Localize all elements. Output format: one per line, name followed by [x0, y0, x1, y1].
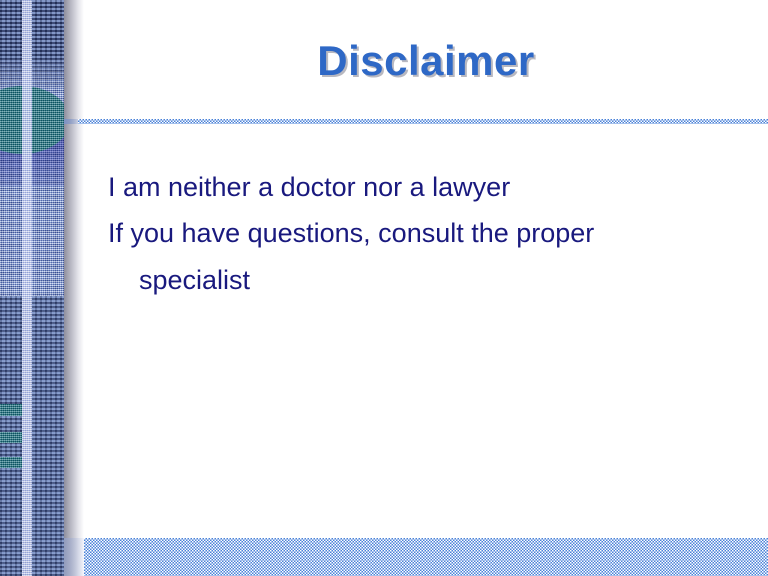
- decorative-sidebar: [0, 0, 64, 576]
- sidebar-drop-shadow: [64, 0, 84, 576]
- teal-bar-icon-2: [0, 432, 24, 443]
- body-line-2-continuation: specialist: [108, 257, 744, 303]
- body-line-1-text: I am neither a doctor nor a lawyer: [108, 172, 510, 202]
- body-line-2: If you have questions, consult the prope…: [108, 210, 744, 303]
- footer-decorative-band: [84, 538, 768, 576]
- body-line-2-text: If you have questions, consult the prope…: [108, 218, 594, 248]
- sidebar-dark-weave-top: [0, 0, 64, 92]
- body-line-1: I am neither a doctor nor a lawyer: [108, 164, 744, 210]
- slide-body: I am neither a doctor nor a lawyer If yo…: [108, 164, 744, 303]
- teal-circle-icon: [0, 86, 64, 154]
- sidebar-light-stripe: [22, 0, 32, 576]
- teal-bar-icon-3: [0, 457, 24, 468]
- presentation-slide: Disclaimer I am neither a doctor nor a l…: [0, 0, 768, 576]
- teal-bar-icon-1: [0, 404, 24, 416]
- title-divider-rule: [78, 119, 768, 124]
- page-title: Disclaimer: [84, 38, 768, 84]
